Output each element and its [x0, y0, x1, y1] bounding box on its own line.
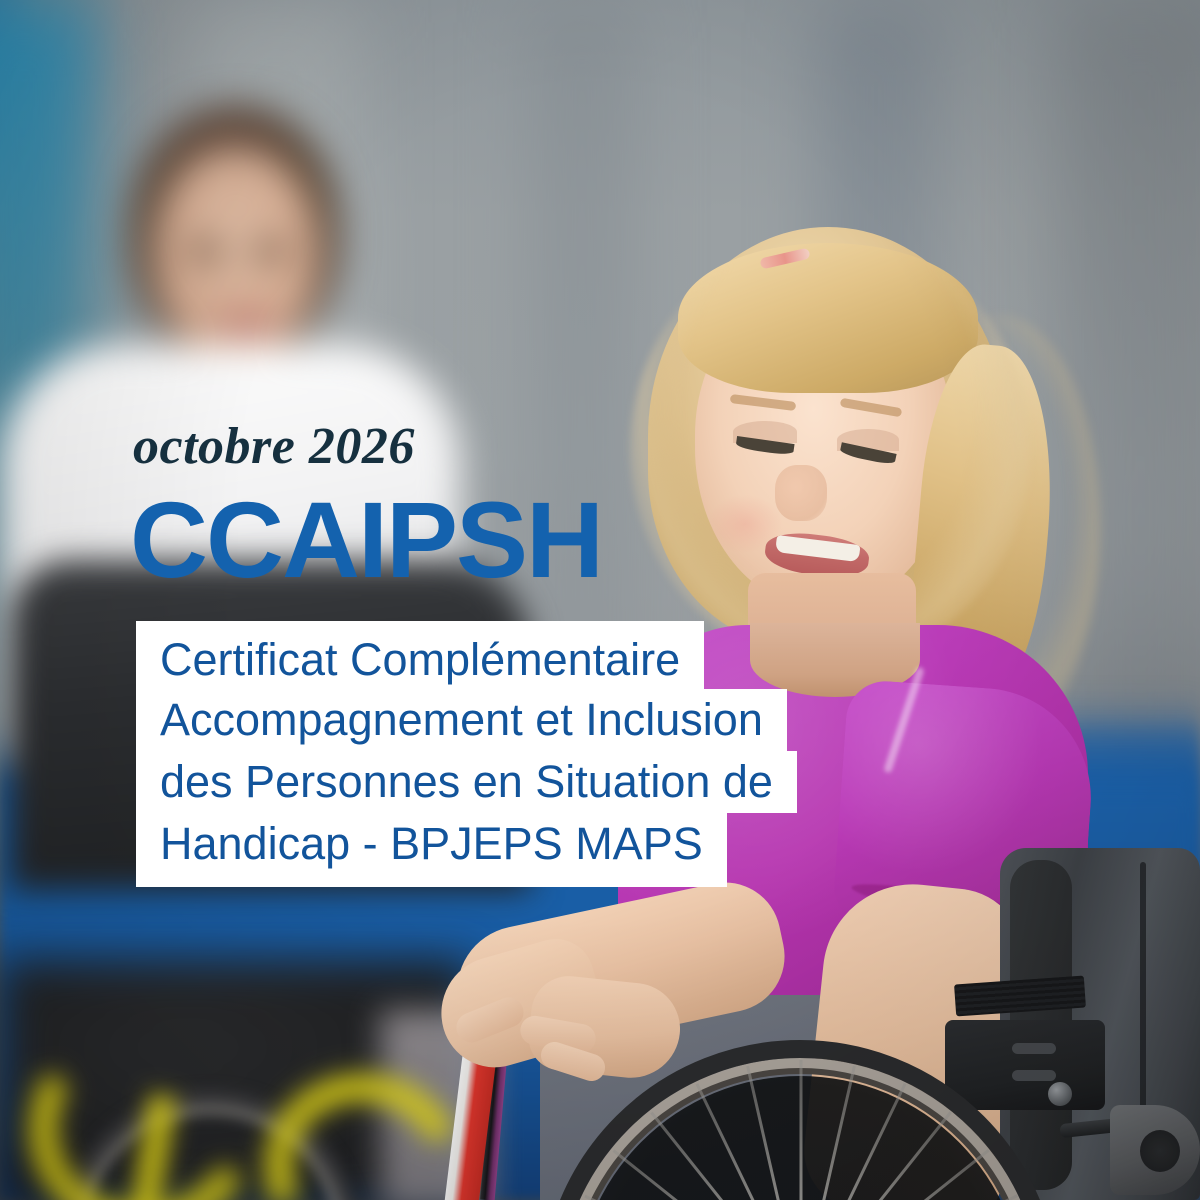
title-line-4: Handicap - BPJEPS MAPS [136, 813, 727, 887]
text-overlay: octobre 2026 CCAIPSH Certificat Compléme… [0, 0, 1200, 1200]
program-acronym: CCAIPSH [130, 485, 602, 595]
title-line-1: Certificat Complémentaire [136, 621, 704, 689]
date-kicker: octobre 2026 [133, 421, 415, 473]
program-title-block: Certificat Complémentaire Accompagnement… [136, 621, 797, 887]
title-line-2: Accompagnement et Inclusion [136, 689, 787, 751]
poster: octobre 2026 CCAIPSH Certificat Compléme… [0, 0, 1200, 1200]
title-line-3: des Personnes en Situation de [136, 751, 797, 813]
